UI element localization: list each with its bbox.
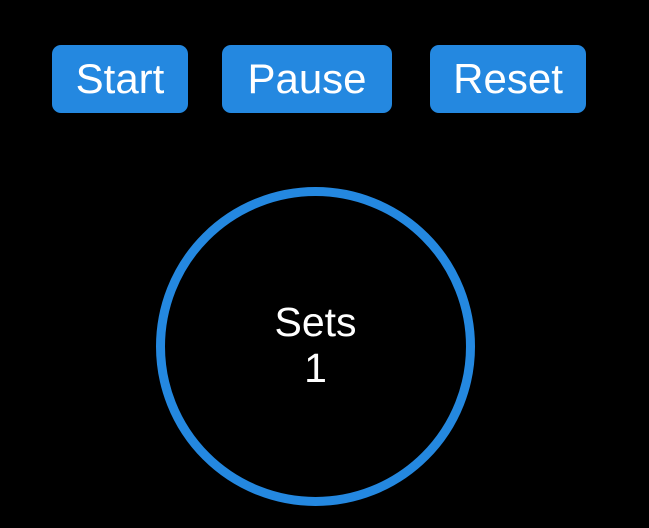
control-button-bar: Start Pause Reset	[0, 45, 649, 113]
start-button[interactable]: Start	[52, 45, 188, 113]
progress-ring-content: Sets 1	[156, 187, 475, 506]
sets-count-value: 1	[304, 346, 327, 391]
timer-app-root: Start Pause Reset Sets 1	[0, 0, 649, 528]
sets-progress-ring[interactable]: Sets 1	[156, 187, 475, 506]
pause-button[interactable]: Pause	[222, 45, 392, 113]
sets-label: Sets	[274, 301, 356, 344]
reset-button[interactable]: Reset	[430, 45, 586, 113]
